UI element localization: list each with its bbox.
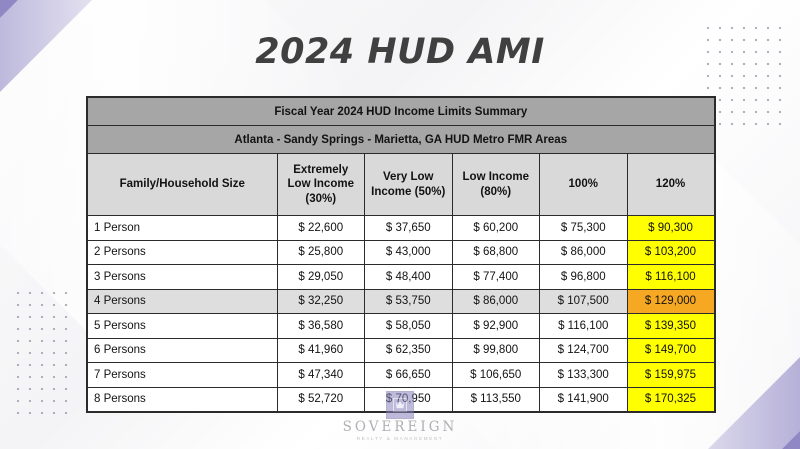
table-cell-value: $ 66,650 — [365, 363, 453, 388]
column-header-100-label: 100% — [569, 178, 598, 190]
table-cell-value: $ 43,000 — [365, 240, 453, 265]
table-cell-120-percent: $ 116,100 — [627, 265, 715, 290]
table-cell-value: $ 77,400 — [452, 265, 540, 290]
column-header-vli-line2: Income (50%) — [371, 186, 445, 198]
table-cell-value: $ 116,100 — [540, 314, 628, 339]
table-cell-value: $ 48,400 — [365, 265, 453, 290]
column-header-li-line2: (80%) — [480, 186, 511, 198]
table-cell-value: $ 68,800 — [452, 240, 540, 265]
table-cell-value: $ 32,250 — [277, 289, 365, 314]
table-title-line2: Atlanta - Sandy Springs - Marietta, GA H… — [87, 126, 715, 154]
logo-emblem-icon — [386, 391, 414, 419]
table-cell-value: $ 60,200 — [452, 216, 540, 241]
table-cell-120-percent: $ 139,350 — [627, 314, 715, 339]
table-body: 1 Person$ 22,600$ 37,650$ 60,200$ 75,300… — [87, 216, 715, 413]
table-cell-household-size: 3 Persons — [87, 265, 277, 290]
table-merged-header-row-1: Fiscal Year 2024 HUD Income Limits Summa… — [87, 97, 715, 126]
table-column-header-row: Family/Household Size Extremely Low Inco… — [87, 154, 715, 216]
logo-tagline: REALTY & MANAGEMENT — [0, 436, 800, 441]
table-cell-household-size: 2 Persons — [87, 240, 277, 265]
table-cell-value: $ 62,350 — [365, 338, 453, 363]
table-cell-value: $ 29,050 — [277, 265, 365, 290]
column-header-family-size: Family/Household Size — [87, 154, 277, 216]
table-cell-value: $ 92,900 — [452, 314, 540, 339]
table-cell-household-size: 6 Persons — [87, 338, 277, 363]
table-cell-value: $ 36,580 — [277, 314, 365, 339]
column-header-eli-line1: Extremely — [293, 164, 348, 176]
logo-name: SOVEREIGN — [0, 420, 800, 435]
table-cell-value: $ 22,600 — [277, 216, 365, 241]
column-header-eli-line3: (30%) — [305, 193, 336, 205]
table-row: 4 Persons$ 32,250$ 53,750$ 86,000$ 107,5… — [87, 289, 715, 314]
income-limits-table: Fiscal Year 2024 HUD Income Limits Summa… — [86, 96, 716, 413]
company-logo: SOVEREIGN REALTY & MANAGEMENT — [0, 391, 800, 441]
table-cell-120-percent: $ 129,000 — [627, 289, 715, 314]
table-cell-value: $ 133,300 — [540, 363, 628, 388]
table-row: 3 Persons$ 29,050$ 48,400$ 77,400$ 96,80… — [87, 265, 715, 290]
column-header-very-low-income: Very Low Income (50%) — [365, 154, 453, 216]
column-header-li-line1: Low Income — [463, 171, 529, 183]
table-merged-header-row-2: Atlanta - Sandy Springs - Marietta, GA H… — [87, 126, 715, 154]
table-cell-value: $ 107,500 — [540, 289, 628, 314]
table-cell-120-percent: $ 103,200 — [627, 240, 715, 265]
column-header-100-percent: 100% — [540, 154, 628, 216]
column-header-120-percent: 120% — [627, 154, 715, 216]
table-cell-120-percent: $ 149,700 — [627, 338, 715, 363]
table-row: 1 Person$ 22,600$ 37,650$ 60,200$ 75,300… — [87, 216, 715, 241]
table-cell-120-percent: $ 159,975 — [627, 363, 715, 388]
column-header-vli-line1: Very Low — [383, 171, 434, 183]
table-cell-value: $ 53,750 — [365, 289, 453, 314]
table-cell-value: $ 86,000 — [452, 289, 540, 314]
table-cell-value: $ 75,300 — [540, 216, 628, 241]
table-row: 5 Persons$ 36,580$ 58,050$ 92,900$ 116,1… — [87, 314, 715, 339]
table-title-line1: Fiscal Year 2024 HUD Income Limits Summa… — [87, 97, 715, 126]
table-cell-value: $ 124,700 — [540, 338, 628, 363]
table-cell-value: $ 99,800 — [452, 338, 540, 363]
table-row: 6 Persons$ 41,960$ 62,350$ 99,800$ 124,7… — [87, 338, 715, 363]
table-cell-value: $ 37,650 — [365, 216, 453, 241]
column-header-eli-line2: Low Income — [288, 178, 354, 190]
table-cell-120-percent: $ 90,300 — [627, 216, 715, 241]
column-header-120-label: 120% — [656, 178, 685, 190]
table-cell-value: $ 47,340 — [277, 363, 365, 388]
table-cell-value: $ 86,000 — [540, 240, 628, 265]
table-head: Fiscal Year 2024 HUD Income Limits Summa… — [87, 97, 715, 216]
column-header-low-income: Low Income (80%) — [452, 154, 540, 216]
table-cell-value: $ 58,050 — [365, 314, 453, 339]
column-header-extremely-low-income: Extremely Low Income (30%) — [277, 154, 365, 216]
page-title: 2024 HUD AMI — [0, 32, 800, 72]
table-cell-household-size: 7 Persons — [87, 363, 277, 388]
table-cell-value: $ 25,800 — [277, 240, 365, 265]
slide-canvas: 2024 HUD AMI Fiscal Year 2024 HUD Income… — [0, 0, 800, 449]
table-cell-household-size: 1 Person — [87, 216, 277, 241]
table-cell-value: $ 106,650 — [452, 363, 540, 388]
table-row: 7 Persons$ 47,340$ 66,650$ 106,650$ 133,… — [87, 363, 715, 388]
table-cell-value: $ 96,800 — [540, 265, 628, 290]
income-limits-table-container: Fiscal Year 2024 HUD Income Limits Summa… — [86, 96, 714, 413]
table-cell-household-size: 4 Persons — [87, 289, 277, 314]
table-cell-value: $ 41,960 — [277, 338, 365, 363]
table-cell-household-size: 5 Persons — [87, 314, 277, 339]
table-row: 2 Persons$ 25,800$ 43,000$ 68,800$ 86,00… — [87, 240, 715, 265]
column-header-family-size-label: Family/Household Size — [120, 178, 245, 190]
